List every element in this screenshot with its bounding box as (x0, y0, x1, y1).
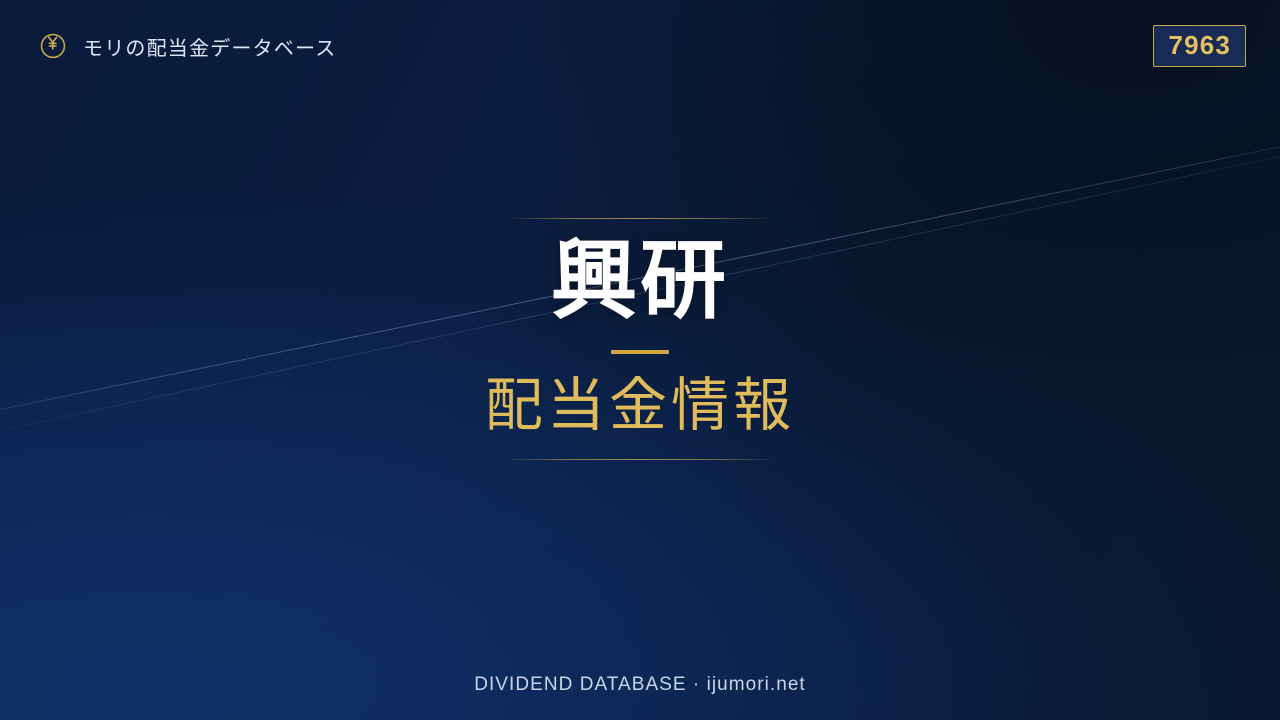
page-subtitle: 配当金情報 (485, 376, 795, 437)
hero-rule-top (506, 218, 774, 219)
yen-circle-icon (38, 30, 68, 60)
footer-attribution: DIVIDEND DATABASE · ijumori.net (474, 674, 806, 696)
stock-code-badge[interactable]: 7963 (1153, 25, 1246, 67)
brand-name-label: モリの配当金データベース (83, 32, 336, 61)
slide-canvas: モリの配当金データベース 7963 興研 配当金情報 DIVIDEND DATA… (0, 0, 1280, 720)
gold-divider (611, 350, 669, 354)
hero-block: 興研 配当金情報 (0, 218, 1280, 460)
brand-lockup[interactable]: モリの配当金データベース (38, 32, 336, 61)
company-name-title: 興研 (551, 237, 729, 326)
site-footer: DIVIDEND DATABASE · ijumori.net (0, 650, 1280, 720)
site-header: モリの配当金データベース 7963 (0, 0, 1280, 92)
hero-rule-bottom (504, 459, 776, 460)
